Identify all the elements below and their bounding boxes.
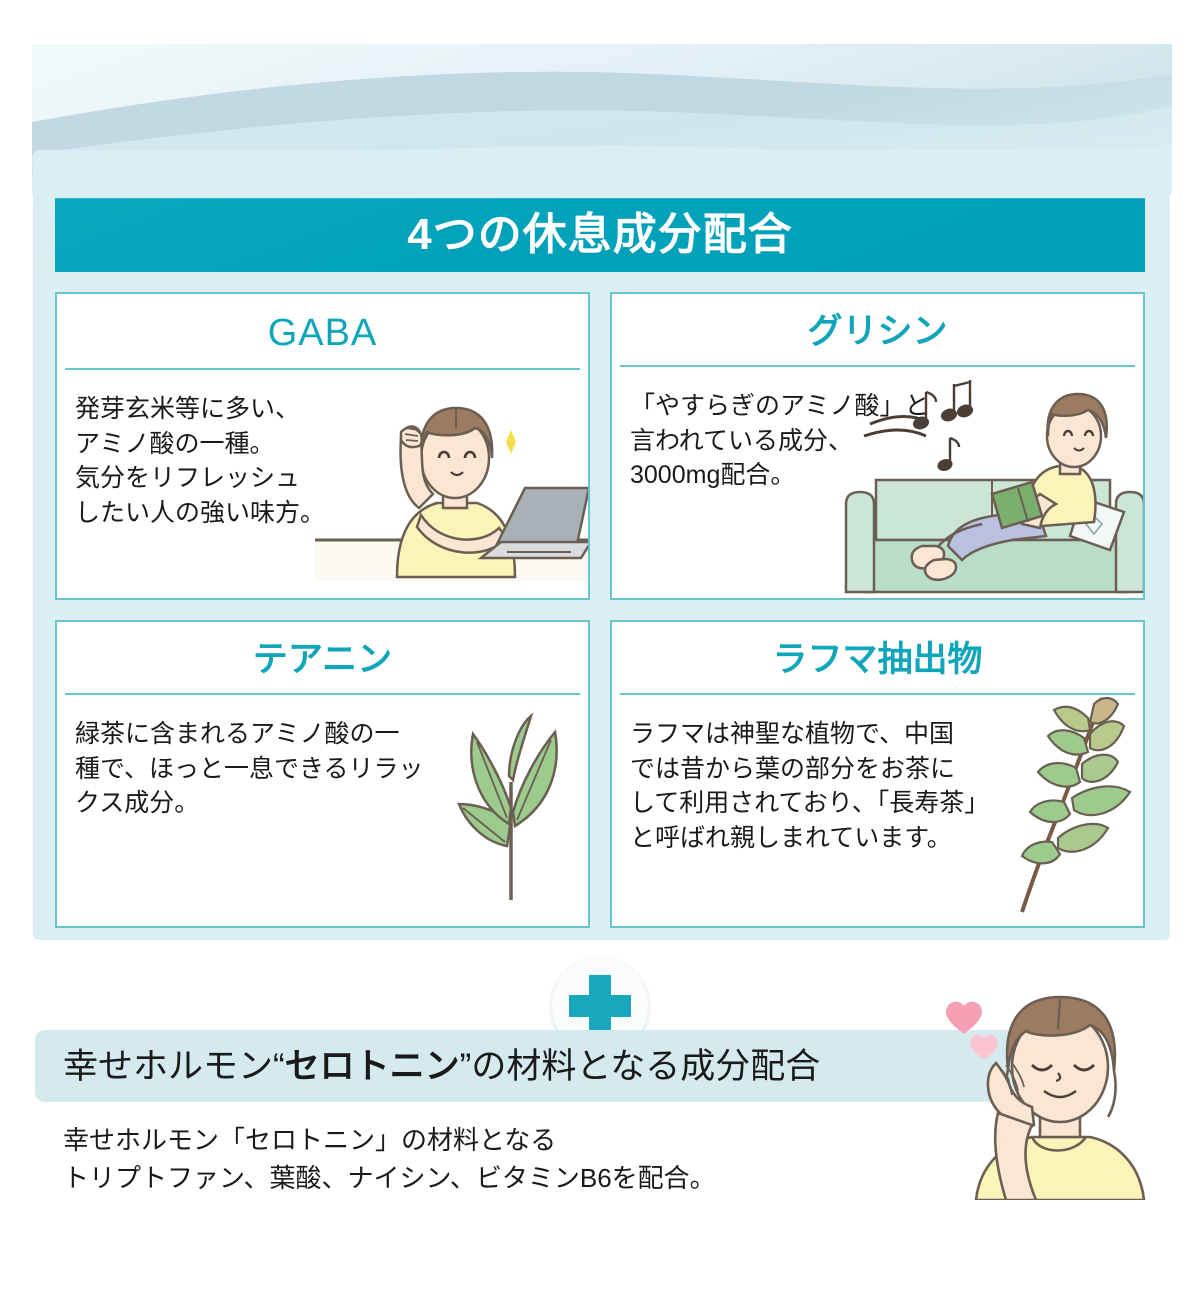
card-slot-glycine: グリシン 「やすらぎのアミノ酸」と 言われている成分、 3000mg配合。 — [600, 292, 1145, 610]
card-title-gaba: GABA — [57, 294, 588, 368]
card-title-theanine: テアニン — [57, 622, 588, 693]
plus-icon-vertical-bar — [589, 975, 611, 1037]
card-title-glycine: グリシン — [612, 294, 1143, 365]
card-slot-gaba: GABA 発芽玄米等に多い、 アミノ酸の一種。 気分をリフレッシュ したい人の強… — [55, 292, 600, 610]
card-body-rafuma: ラフマは神聖な植物で、中国 では昔から葉の部分をお茶に して利用されており、「長… — [612, 695, 1030, 855]
serotonin-banner-text: 幸せホルモン“セロトニン”の材料となる成分配合 — [35, 1049, 820, 1084]
serotonin-banner-suffix: ”の材料となる成分配合 — [460, 1047, 821, 1086]
card-body-glycine: 「やすらぎのアミノ酸」と 言われている成分、 3000mg配合。 — [612, 367, 1030, 493]
card-body-theanine: 緑茶に含まれるアミノ酸の一 種で、ほっと一息できるリラッ クス成分。 — [57, 695, 475, 821]
ingredient-card-grid: GABA 発芽玄米等に多い、 アミノ酸の一種。 気分をリフレッシュ したい人の強… — [55, 292, 1145, 928]
serotonin-banner-prefix: 幸せホルモン“ — [63, 1047, 285, 1086]
ingredient-card-glycine: グリシン 「やすらぎのアミノ酸」と 言われている成分、 3000mg配合。 — [610, 292, 1145, 600]
serotonin-note: 幸せホルモン「セロトニン」の材料となる トリプトファン、葉酸、ナイシン、ビタミン… — [63, 1122, 716, 1197]
ingredient-card-rafuma: ラフマ抽出物 ラフマは神聖な植物で、中国 では昔から葉の部分をお茶に して利用さ… — [610, 620, 1145, 928]
card-slot-rafuma: ラフマ抽出物 ラフマは神聖な植物で、中国 では昔から葉の部分をお茶に して利用さ… — [600, 610, 1145, 928]
section-header-banner: 4つの休息成分配合 — [55, 198, 1145, 272]
card-slot-theanine: テアニン 緑茶に含まれるアミノ酸の一 種で、ほっと一息できるリラッ クス成分。 — [55, 610, 600, 928]
page-title: 4つの休息成分配合 — [407, 213, 792, 257]
ingredient-card-theanine: テアニン 緑茶に含まれるアミノ酸の一 種で、ほっと一息できるリラッ クス成分。 — [55, 620, 590, 928]
ingredient-card-gaba: GABA 発芽玄米等に多い、 アミノ酸の一種。 気分をリフレッシュ したい人の強… — [55, 292, 590, 600]
card-title-rafuma: ラフマ抽出物 — [612, 622, 1143, 693]
serotonin-banner-emphasis: セロトニン — [285, 1047, 460, 1086]
serotonin-banner: 幸せホルモン“セロトニン”の材料となる成分配合 — [35, 1030, 1035, 1102]
card-body-gaba: 発芽玄米等に多い、 アミノ酸の一種。 気分をリフレッシュ したい人の強い味方。 — [57, 370, 405, 530]
